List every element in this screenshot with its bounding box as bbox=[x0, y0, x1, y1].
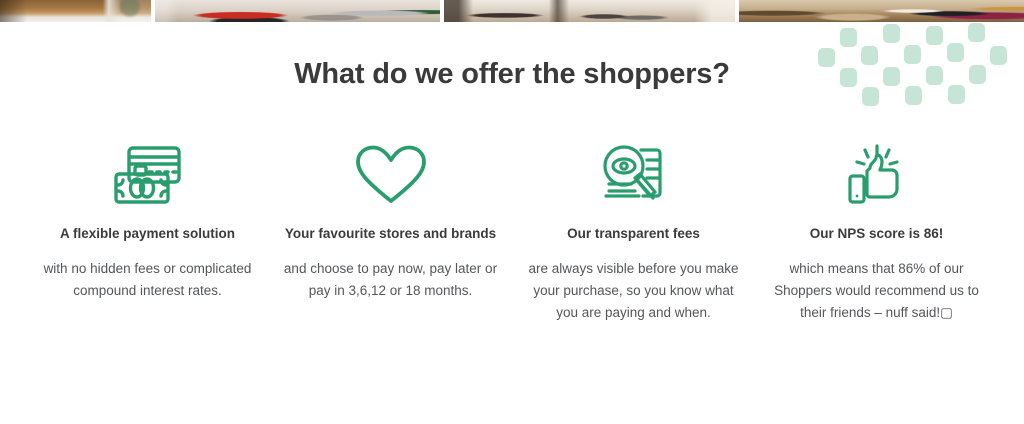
feature-column-nps-score: Our NPS score is 86! which means that 86… bbox=[755, 140, 998, 324]
magnifier-eye-document-icon bbox=[526, 140, 741, 210]
photo-tile-wooden-table-interior bbox=[0, 0, 151, 22]
photo-tile-hallway-corridor bbox=[444, 0, 735, 22]
feature-body: which means that 86% of our Shoppers wou… bbox=[769, 258, 984, 324]
feature-body: with no hidden fees or complicated compo… bbox=[40, 258, 255, 302]
thumbs-up-sparkle-icon bbox=[769, 140, 984, 210]
feature-title: Our transparent fees bbox=[526, 224, 741, 244]
feature-body: are always visible before you make your … bbox=[526, 258, 741, 324]
feature-column-transparent-fees: Our transparent fees are always visible … bbox=[512, 140, 755, 324]
offer-shoppers-section: What do we offer the shoppers? bbox=[0, 0, 1024, 424]
photo-strip bbox=[0, 0, 1024, 22]
credit-card-cash-icon bbox=[40, 140, 255, 210]
feature-title: Your favourite stores and brands bbox=[283, 224, 498, 244]
page-title: What do we offer the shoppers? bbox=[0, 58, 1024, 91]
feature-columns: A flexible payment solution with no hidd… bbox=[26, 140, 998, 324]
photo-tile-people-at-table-meeting bbox=[739, 0, 1024, 22]
feature-column-favourite-stores: Your favourite stores and brands and cho… bbox=[269, 140, 512, 302]
feature-title: Our NPS score is 86! bbox=[769, 224, 984, 244]
photo-tile-person-in-red-sitting bbox=[155, 0, 440, 22]
heart-icon bbox=[283, 140, 498, 210]
feature-body: and choose to pay now, pay later or pay … bbox=[283, 258, 498, 302]
feature-title: A flexible payment solution bbox=[40, 224, 255, 244]
feature-column-flexible-payment: A flexible payment solution with no hidd… bbox=[26, 140, 269, 302]
